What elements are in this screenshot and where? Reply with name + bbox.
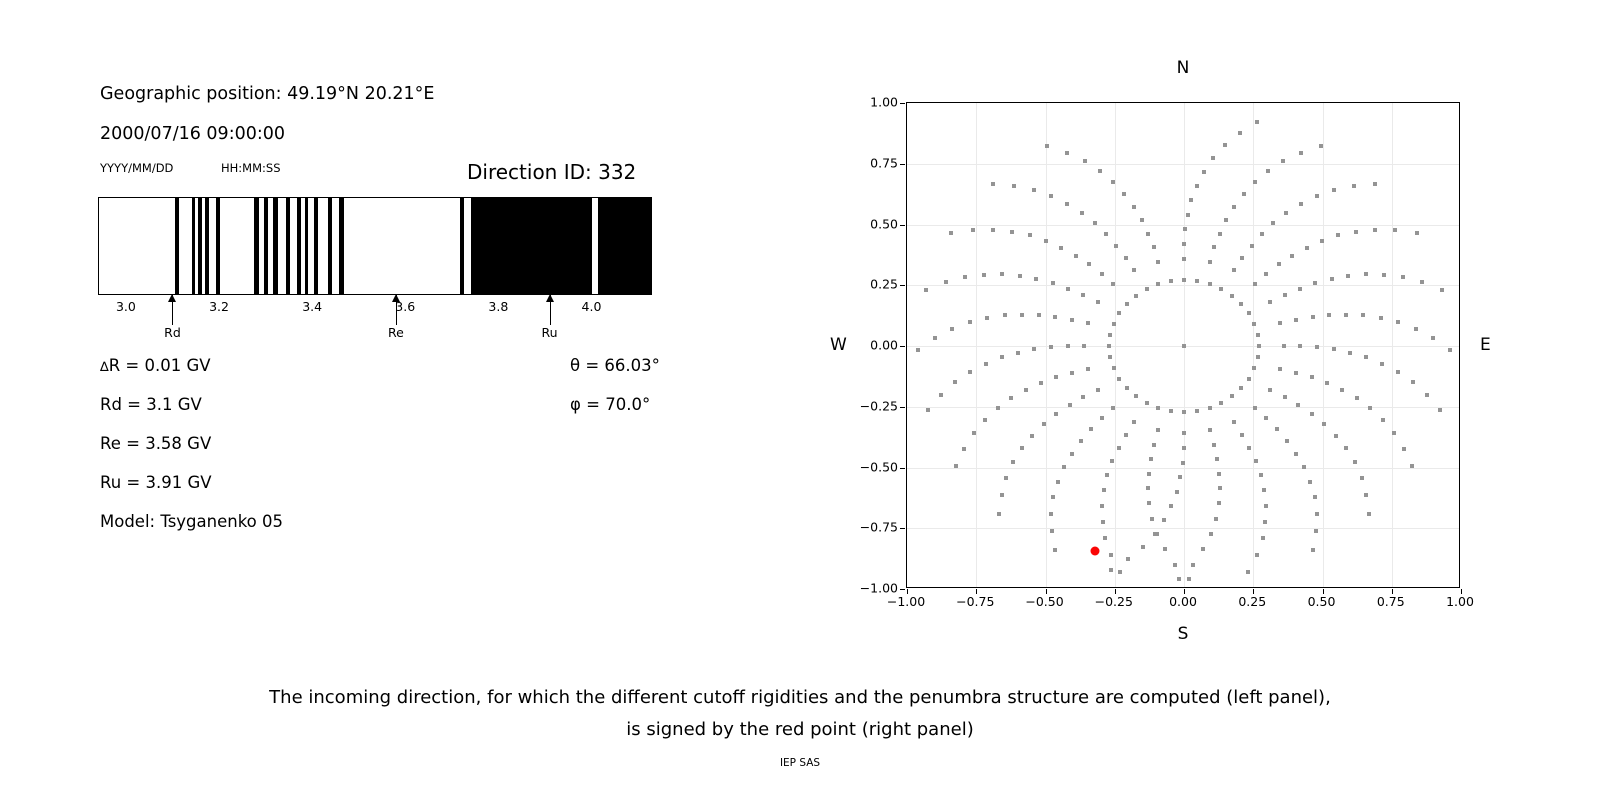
penumbra-band	[598, 198, 652, 294]
direction-dot	[1182, 446, 1186, 450]
direction-dot	[1093, 221, 1097, 225]
direction-dot	[1254, 459, 1258, 463]
grid-line-vertical	[1046, 103, 1047, 587]
direction-dot	[1182, 431, 1186, 435]
direction-dot	[1034, 277, 1038, 281]
direction-dot	[1238, 131, 1242, 135]
direction-dot	[1149, 457, 1153, 461]
direction-dot	[1344, 313, 1348, 317]
direction-dot	[1053, 315, 1057, 319]
direction-dot	[1062, 465, 1066, 469]
direction-dot	[1311, 548, 1315, 552]
direction-dot	[1448, 348, 1452, 352]
direction-dot	[1208, 406, 1212, 410]
direction-dot	[1294, 318, 1298, 322]
direction-dot	[1217, 472, 1221, 476]
penumbra-band	[254, 198, 258, 294]
direction-dot	[1285, 439, 1289, 443]
parameter-item: Model: Tsyganenko 05	[100, 512, 283, 531]
direction-dot	[1079, 439, 1083, 443]
direction-dot	[1281, 159, 1285, 163]
direction-dot	[1208, 260, 1212, 264]
direction-dot	[1162, 518, 1166, 522]
penumbra-marker-label: Ru	[542, 325, 558, 340]
direction-dot	[1100, 416, 1104, 420]
penumbra-band	[175, 198, 180, 294]
penumbra-tick-label: 3.2	[209, 299, 229, 314]
direction-dot	[1086, 321, 1090, 325]
x-axis-tick-label: 0.50	[1308, 594, 1336, 609]
direction-dot	[1074, 254, 1078, 258]
direction-dot	[1049, 512, 1053, 516]
direction-dot	[1010, 230, 1014, 234]
y-axis-tick-label: 0.50	[852, 216, 898, 231]
direction-dot	[1037, 313, 1041, 317]
direction-dot	[1290, 254, 1294, 258]
direction-dot	[1117, 311, 1121, 315]
direction-dot	[1096, 388, 1100, 392]
direction-dot	[1051, 281, 1055, 285]
direction-dot	[1118, 570, 1122, 574]
direction-dot	[1415, 231, 1419, 235]
direction-dot	[1314, 529, 1318, 533]
penumbra-band	[192, 198, 195, 294]
direction-dot	[1271, 221, 1275, 225]
direction-dot	[1305, 246, 1309, 250]
direction-dot	[1218, 232, 1222, 236]
direction-dot	[1259, 473, 1263, 477]
x-axis-tick-label: −1.00	[887, 594, 925, 609]
direction-dot	[1240, 433, 1244, 437]
direction-dot	[1315, 512, 1319, 516]
direction-dot	[1141, 545, 1145, 549]
direction-dot	[1181, 461, 1185, 465]
direction-dot	[1392, 431, 1396, 435]
direction-dot	[1327, 313, 1331, 317]
direction-id-label: Direction ID: 332	[467, 160, 636, 184]
parameter-item: Rd = 3.1 GV	[100, 395, 202, 414]
direction-dot	[933, 336, 937, 340]
direction-dot	[1252, 366, 1256, 370]
penumbra-tick-label: 3.8	[488, 299, 508, 314]
direction-dot	[1117, 377, 1121, 381]
penumbra-band	[286, 198, 290, 294]
penumbra-band	[216, 198, 220, 294]
direction-dot	[1111, 282, 1115, 286]
direction-dot	[1177, 577, 1181, 581]
direction-dot	[1183, 227, 1187, 231]
direction-dot	[1182, 257, 1186, 261]
direction-dot	[1299, 151, 1303, 155]
direction-dot	[1032, 347, 1036, 351]
direction-dot	[1004, 476, 1008, 480]
direction-dot	[1255, 120, 1259, 124]
direction-dot	[1252, 322, 1256, 326]
x-axis-tick-label: −0.50	[1025, 594, 1063, 609]
direction-dot	[1042, 422, 1046, 426]
direction-dot	[1268, 388, 1272, 392]
direction-dot	[1195, 279, 1199, 283]
direction-dot	[1134, 294, 1138, 298]
direction-dot	[1242, 192, 1246, 196]
penumbra-band	[460, 198, 464, 294]
penumbra-band	[264, 198, 268, 294]
direction-dot	[1132, 268, 1136, 272]
penumbra-panel: Geographic position: 49.19°N 20.21°E 200…	[0, 0, 760, 660]
direction-dot	[1163, 547, 1167, 551]
direction-dot	[1217, 501, 1221, 505]
penumbra-marker-arrowhead	[392, 294, 400, 302]
grid-line-horizontal	[907, 468, 1459, 469]
penumbra-bar-wrapper	[98, 197, 652, 295]
direction-dot	[1431, 336, 1435, 340]
direction-dot	[991, 182, 995, 186]
direction-dot	[1263, 520, 1267, 524]
direction-dot	[1146, 486, 1150, 490]
direction-dot	[949, 231, 953, 235]
direction-dot	[1114, 244, 1118, 248]
direction-dot	[1089, 427, 1093, 431]
direction-dot	[1066, 344, 1070, 348]
penumbra-band	[328, 198, 332, 294]
grid-line-horizontal	[907, 407, 1459, 408]
direction-dot	[1411, 380, 1415, 384]
y-axis-tick	[900, 407, 905, 408]
direction-dot	[1361, 313, 1365, 317]
direction-dot	[1016, 351, 1020, 355]
direction-dot	[1083, 159, 1087, 163]
direction-dot	[1020, 446, 1024, 450]
direction-dot	[1253, 406, 1257, 410]
direction-dot	[1410, 464, 1414, 468]
direction-dot	[1109, 553, 1113, 557]
direction-dot	[1070, 452, 1074, 456]
direction-dot	[1283, 395, 1287, 399]
direction-dot	[1379, 316, 1383, 320]
direction-dot	[1049, 345, 1053, 349]
direction-dot	[1266, 169, 1270, 173]
direction-dot	[1246, 570, 1250, 574]
direction-dot	[1209, 532, 1213, 536]
direction-dot	[1108, 355, 1112, 359]
direction-dot	[926, 408, 930, 412]
direction-dot	[1146, 232, 1150, 236]
direction-dot	[1299, 202, 1303, 206]
direction-dot	[1232, 420, 1236, 424]
y-axis-tick	[900, 225, 905, 226]
direction-dot	[1011, 460, 1015, 464]
direction-dot	[1028, 233, 1032, 237]
direction-dot	[1103, 536, 1107, 540]
angle-item: θ = 66.03°	[570, 356, 660, 375]
compass-east-label: E	[1480, 335, 1491, 355]
direction-dot	[1313, 495, 1317, 499]
direction-dot	[1000, 272, 1004, 276]
direction-dot	[1109, 568, 1113, 572]
direction-dot	[1313, 281, 1317, 285]
direction-dot	[982, 273, 986, 277]
penumbra-marker-arrowhead	[168, 294, 176, 302]
direction-dot	[1256, 333, 1260, 337]
direction-dot	[1024, 388, 1028, 392]
direction-dot	[1208, 282, 1212, 286]
direction-dot	[1218, 486, 1222, 490]
y-axis-tick-label: −0.75	[852, 520, 898, 535]
direction-dot	[984, 362, 988, 366]
direction-dot	[1223, 143, 1227, 147]
direction-dot	[1156, 260, 1160, 264]
direction-dot	[1283, 293, 1287, 297]
direction-dot	[1260, 232, 1264, 236]
direction-dot	[1294, 452, 1298, 456]
direction-dot	[1364, 493, 1368, 497]
direction-dot	[1101, 520, 1105, 524]
direction-dot	[1018, 274, 1022, 278]
direction-dot	[1045, 144, 1049, 148]
grid-line-horizontal	[907, 285, 1459, 286]
grid-line-vertical	[1253, 103, 1254, 587]
direction-dot	[1080, 211, 1084, 215]
geographic-position: Geographic position: 49.19°N 20.21°E	[100, 84, 435, 104]
direction-dot	[1208, 428, 1212, 432]
penumbra-band	[205, 198, 209, 294]
y-axis-tick	[900, 103, 905, 104]
direction-dot	[1191, 563, 1195, 567]
direction-dot	[1134, 394, 1138, 398]
direction-dot	[1308, 480, 1312, 484]
direction-scatter-plot	[906, 102, 1460, 588]
penumbra-marker-label: Re	[388, 325, 404, 340]
direction-dot	[1239, 386, 1243, 390]
direction-dot	[972, 431, 976, 435]
direction-dot	[1030, 434, 1034, 438]
penumbra-band	[198, 198, 202, 294]
direction-dot	[1195, 184, 1199, 188]
direction-dot	[1100, 504, 1104, 508]
y-axis-tick-label: −0.50	[852, 459, 898, 474]
compass-west-label: W	[830, 335, 847, 355]
datetime-text: 2000/07/16 09:00:00	[100, 124, 285, 144]
direction-dot	[1066, 287, 1070, 291]
selected-direction-point	[1091, 547, 1100, 556]
direction-dot	[1278, 321, 1282, 325]
direction-dot	[1302, 465, 1306, 469]
direction-dot	[1081, 293, 1085, 297]
direction-dot	[1310, 412, 1314, 416]
direction-dot	[1195, 409, 1199, 413]
direction-dot	[1282, 344, 1286, 348]
direction-dot	[1122, 192, 1126, 196]
direction-dot	[1145, 401, 1149, 405]
direction-dot	[1354, 230, 1358, 234]
footer-label: IEP SAS	[0, 757, 1600, 769]
direction-dot	[1156, 406, 1160, 410]
parameter-item: ∆R = 0.01 GV	[100, 356, 211, 375]
direction-dot	[1169, 504, 1173, 508]
direction-dot	[1360, 476, 1364, 480]
direction-dot	[971, 228, 975, 232]
grid-line-horizontal	[907, 225, 1459, 226]
direction-dot	[1230, 394, 1234, 398]
penumbra-marker-label: Rd	[164, 325, 181, 340]
direction-dot	[1140, 218, 1144, 222]
x-axis-tick-label: 0.00	[1169, 594, 1197, 609]
direction-dot	[1175, 490, 1179, 494]
direction-dot	[1315, 194, 1319, 198]
direction-dot	[1414, 327, 1418, 331]
direction-dot	[1098, 169, 1102, 173]
direction-dot	[1117, 446, 1121, 450]
direction-dot	[1068, 403, 1072, 407]
direction-dot	[1381, 418, 1385, 422]
penumbra-band	[273, 198, 278, 294]
caption-line-1: The incoming direction, for which the di…	[0, 687, 1600, 708]
direction-dot	[1152, 443, 1156, 447]
direction-dot	[1182, 410, 1186, 414]
direction-dot	[1224, 218, 1228, 222]
direction-dot	[924, 288, 928, 292]
direction-dot	[1082, 344, 1086, 348]
direction-dot	[1348, 351, 1352, 355]
direction-dot	[1147, 472, 1151, 476]
direction-dot	[1332, 347, 1336, 351]
date-format-hint: YYYY/MM/DD	[100, 161, 173, 175]
direction-dot	[1310, 375, 1314, 379]
direction-dot	[1364, 355, 1368, 359]
penumbra-tick-label: 4.0	[582, 299, 602, 314]
direction-dot	[1298, 287, 1302, 291]
direction-dot	[1125, 302, 1129, 306]
direction-dot	[962, 447, 966, 451]
direction-dot	[1132, 205, 1136, 209]
direction-dot	[1053, 548, 1057, 552]
direction-dot	[1257, 344, 1261, 348]
direction-dot	[1364, 272, 1368, 276]
penumbra-band	[305, 198, 308, 294]
direction-dot	[1147, 501, 1151, 505]
direction-dot	[1261, 536, 1265, 540]
direction-dot	[1049, 194, 1053, 198]
direction-dot	[1420, 280, 1424, 284]
penumbra-band	[339, 198, 344, 294]
direction-dot	[1182, 344, 1186, 348]
direction-dot	[1368, 406, 1372, 410]
grid-line-horizontal	[907, 528, 1459, 529]
direction-dot	[1402, 447, 1406, 451]
direction-dot	[1086, 367, 1090, 371]
x-axis-tick-label: 0.25	[1238, 594, 1266, 609]
direction-dot	[1050, 529, 1054, 533]
grid-line-vertical	[1323, 103, 1324, 587]
direction-dot	[991, 228, 995, 232]
direction-dot	[985, 316, 989, 320]
direction-dot	[950, 327, 954, 331]
direction-dot	[1000, 355, 1004, 359]
direction-dot	[1096, 300, 1100, 304]
direction-dot	[1240, 256, 1244, 260]
direction-dot	[1044, 239, 1048, 243]
penumbra-bar	[98, 197, 652, 295]
direction-dot	[1340, 388, 1344, 392]
direction-dot	[1382, 273, 1386, 277]
direction-dot	[1039, 381, 1043, 385]
direction-dot	[1111, 180, 1115, 184]
direction-dot	[1009, 396, 1013, 400]
direction-dot	[1215, 457, 1219, 461]
caption-line-2: is signed by the red point (right panel)	[0, 719, 1600, 740]
x-axis-tick-label: 0.75	[1377, 594, 1405, 609]
direction-dot	[1105, 473, 1109, 477]
direction-dot	[1070, 318, 1074, 322]
direction-dot	[1150, 517, 1154, 521]
direction-dot	[1212, 245, 1216, 249]
direction-dot	[1155, 532, 1159, 536]
direction-dot	[1230, 294, 1234, 298]
grid-line-vertical	[1115, 103, 1116, 587]
direction-dot	[1438, 408, 1442, 412]
y-axis-tick-label: 0.00	[852, 338, 898, 353]
direction-dot	[1239, 302, 1243, 306]
direction-dot	[1319, 144, 1323, 148]
direction-dot	[1277, 262, 1281, 266]
direction-dot	[1102, 488, 1106, 492]
direction-dot	[1212, 443, 1216, 447]
direction-dot	[1186, 213, 1190, 217]
direction-dot	[1298, 344, 1302, 348]
direction-dot	[1059, 246, 1063, 250]
direction-dot	[1219, 287, 1223, 291]
penumbra-marker-arrowhead	[546, 294, 554, 302]
direction-dot	[1353, 460, 1357, 464]
direction-dot	[1202, 170, 1206, 174]
direction-dot	[1056, 480, 1060, 484]
direction-dot	[963, 275, 967, 279]
penumbra-axis: 3.03.23.43.63.84.0RdReRu	[98, 295, 652, 355]
time-format-hint: HH:MM:SS	[221, 161, 281, 175]
direction-dot	[1054, 412, 1058, 416]
direction-dot	[1219, 401, 1223, 405]
direction-dot	[1278, 367, 1282, 371]
direction-dot	[1051, 495, 1055, 499]
direction-dot	[1054, 375, 1058, 379]
penumbra-tick-label: 3.4	[302, 299, 322, 314]
grid-line-vertical	[1392, 103, 1393, 587]
direction-dot	[1311, 315, 1315, 319]
direction-dot	[1367, 512, 1371, 516]
direction-dot	[1189, 198, 1193, 202]
parameter-item: Ru = 3.91 GV	[100, 473, 212, 492]
angle-item: φ = 70.0°	[570, 395, 650, 414]
direction-dot	[1124, 256, 1128, 260]
direction-dot	[1294, 371, 1298, 375]
direction-dot	[1315, 345, 1319, 349]
direction-dot	[1104, 232, 1108, 236]
direction-dot	[1330, 277, 1334, 281]
y-axis-tick-label: 0.75	[852, 155, 898, 170]
direction-dot	[1232, 205, 1236, 209]
direction-dot	[1110, 459, 1114, 463]
direction-dot	[1332, 188, 1336, 192]
direction-dot	[1247, 311, 1251, 315]
direction-dot	[1247, 446, 1251, 450]
direction-dot	[1253, 180, 1257, 184]
direction-dot	[1262, 488, 1266, 492]
y-axis-tick	[900, 528, 905, 529]
direction-dot	[996, 406, 1000, 410]
x-axis-tick-label: 1.00	[1446, 594, 1474, 609]
direction-dot	[1396, 370, 1400, 374]
direction-dot	[1020, 313, 1024, 317]
